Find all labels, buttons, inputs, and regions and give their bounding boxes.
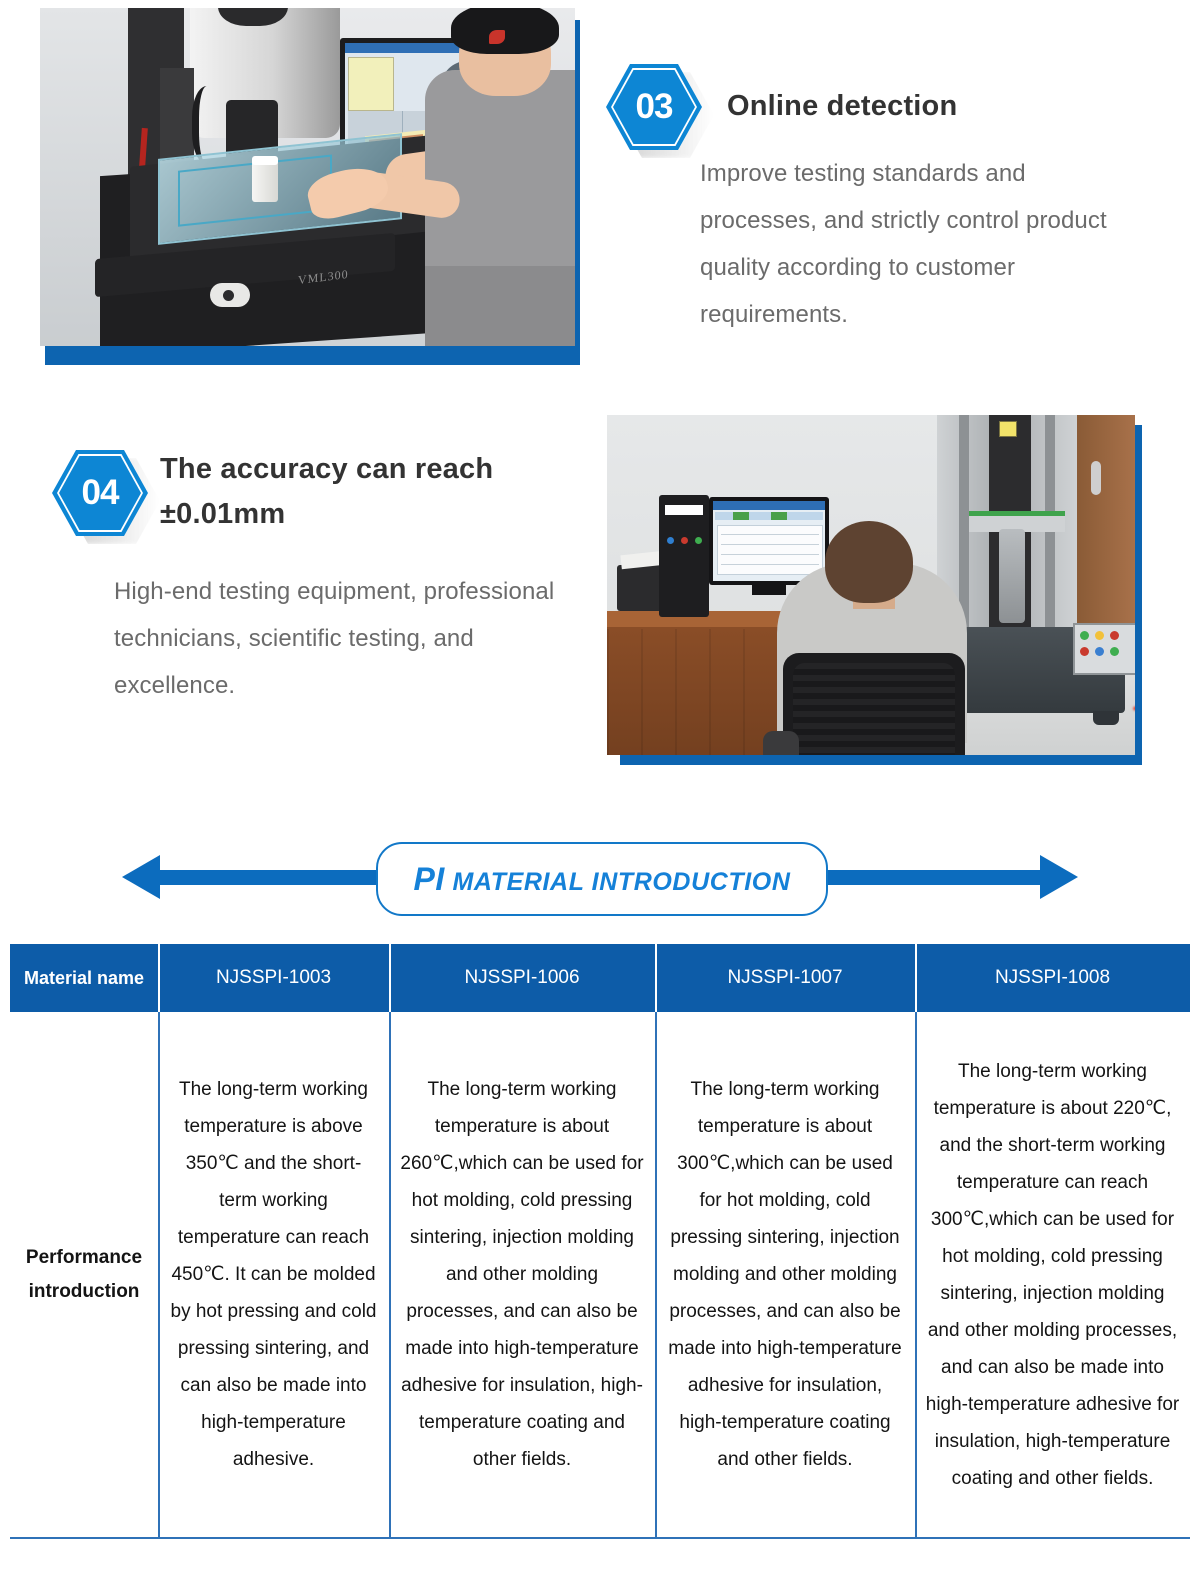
banner-lead: PI bbox=[413, 861, 444, 897]
badge-number: 03 bbox=[606, 64, 702, 150]
section-title-accuracy-line2: ±0.01mm bbox=[160, 492, 590, 536]
material-table: Material name NJSSPI-1003 NJSSPI-1006 NJ… bbox=[10, 944, 1190, 1539]
table-row: Performance introduction The long-term w… bbox=[10, 1012, 1190, 1539]
photo-online-detection: VML300 bbox=[40, 8, 575, 346]
badge-04: 04 bbox=[52, 450, 148, 536]
section-body-online-detection: Improve testing standards and processes,… bbox=[700, 150, 1120, 338]
photo-accuracy bbox=[607, 415, 1135, 755]
table-header-material-name: Material name bbox=[10, 944, 158, 1012]
table-cell-njsspi-1003: The long-term working temperature is abo… bbox=[158, 1012, 389, 1537]
table-header-row: Material name NJSSPI-1003 NJSSPI-1006 NJ… bbox=[10, 944, 1190, 1012]
arrow-right-icon bbox=[1040, 855, 1078, 899]
table-header-njsspi-1008: NJSSPI-1008 bbox=[915, 944, 1190, 1012]
table-cell-njsspi-1006: The long-term working temperature is abo… bbox=[389, 1012, 655, 1537]
pi-material-banner: PI MATERIAL INTRODUCTION bbox=[0, 820, 1200, 920]
table-row-label: Performance introduction bbox=[10, 1012, 158, 1537]
badge-number: 04 bbox=[52, 450, 148, 536]
table-header-njsspi-1007: NJSSPI-1007 bbox=[655, 944, 915, 1012]
table-header-njsspi-1003: NJSSPI-1003 bbox=[158, 944, 389, 1012]
section-body-accuracy: High-end testing equipment, professional… bbox=[114, 568, 584, 709]
table-header-njsspi-1006: NJSSPI-1006 bbox=[389, 944, 655, 1012]
section-title-online-detection: Online detection bbox=[727, 84, 1147, 128]
table-cell-njsspi-1007: The long-term working temperature is abo… bbox=[655, 1012, 915, 1537]
table-cell-njsspi-1008: The long-term working temperature is abo… bbox=[915, 1012, 1190, 1537]
arrow-left-icon bbox=[122, 855, 160, 899]
badge-03: 03 bbox=[606, 64, 702, 150]
section-title-accuracy-line1: The accuracy can reach bbox=[160, 447, 590, 491]
banner-pill: PI MATERIAL INTRODUCTION bbox=[376, 842, 828, 916]
banner-text: PI MATERIAL INTRODUCTION bbox=[413, 861, 790, 898]
banner-rest: MATERIAL INTRODUCTION bbox=[452, 868, 790, 896]
